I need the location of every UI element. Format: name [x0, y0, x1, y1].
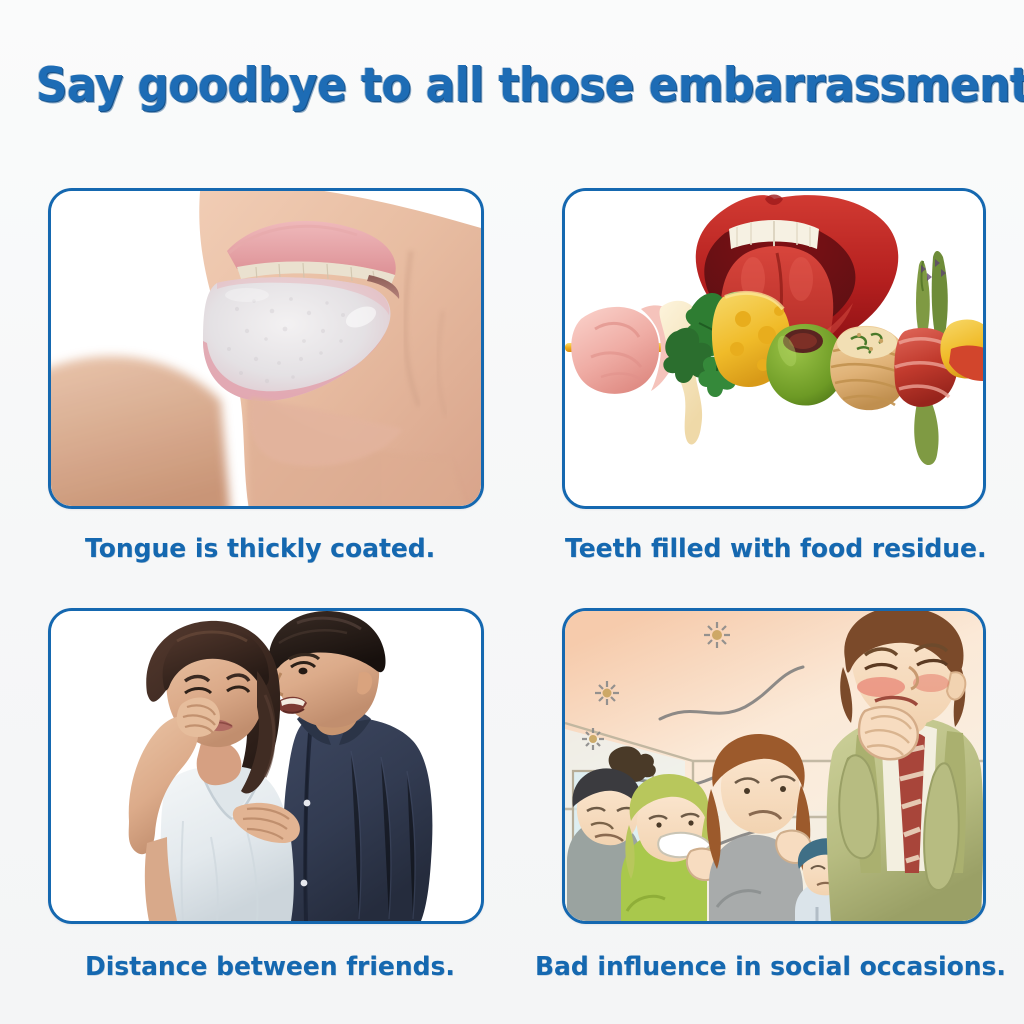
friends-distance-svg: [51, 611, 481, 921]
food-residue-illustration: [565, 191, 983, 506]
caption-food-residue: Teeth filled with food residue.: [565, 534, 986, 564]
friends-distance-photo: [51, 611, 481, 921]
panel-card-food-residue[interactable]: [562, 188, 986, 509]
panel-card-tongue[interactable]: [48, 188, 484, 509]
caption-friends-distance: Distance between friends.: [85, 952, 455, 982]
panel-card-social-occasions[interactable]: [562, 608, 986, 924]
caption-social-occasions: Bad influence in social occasions.: [535, 952, 1006, 982]
social-occasions-svg: [565, 611, 983, 921]
poster-background: Say goodbye to all those embarrassment: [0, 0, 1024, 1024]
page-title: Say goodbye to all those embarrassment: [36, 58, 988, 113]
tongue-photo: [51, 191, 481, 506]
caption-tongue: Tongue is thickly coated.: [85, 534, 435, 564]
social-occasions-cartoon: [565, 611, 983, 921]
panel-card-friends-distance[interactable]: [48, 608, 484, 924]
tongue-photo-svg: [51, 191, 481, 506]
food-residue-svg: [565, 191, 983, 506]
